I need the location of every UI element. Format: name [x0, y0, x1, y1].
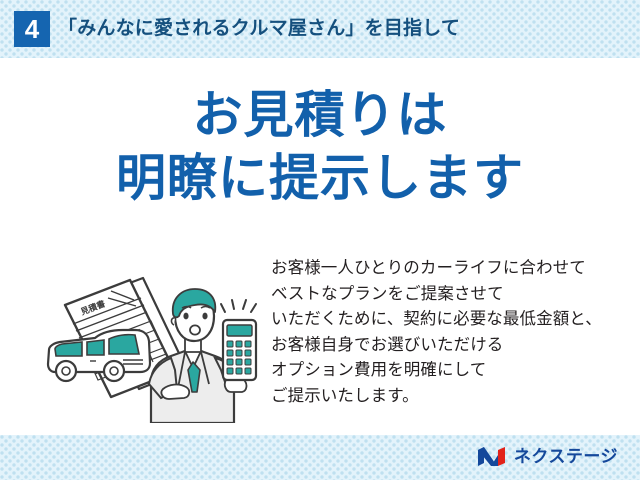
- nextage-n-mark-icon: [477, 446, 507, 467]
- promo-banner: 4 「みんなに愛されるクルマ屋さん」を目指して お見積りは 明瞭に提示します お…: [0, 0, 640, 480]
- body-copy-line-6: ご提示いたします。: [271, 384, 631, 410]
- brand-name: ネクステージ: [514, 446, 618, 467]
- body-copy-line-2: ベストなプランをご提案させて: [271, 282, 631, 308]
- body-copy-line-4: お客様自身でお選びいただける: [271, 333, 631, 359]
- body-copy-line-1: お客様一人ひとりのカーライフに合わせて: [271, 256, 631, 282]
- brand-logo: ネクステージ: [477, 444, 618, 468]
- headline-line-1: お見積りは: [0, 84, 640, 147]
- body-copy-line-5: オプション費用を明確にして: [271, 358, 631, 384]
- page-title: お見積りは 明瞭に提示します: [0, 84, 640, 210]
- calculator-icon: [223, 320, 256, 380]
- sparkle-lines-icon: [221, 300, 256, 312]
- body-copy-line-3: いただくために、契約に必要な最低金額と、: [271, 307, 631, 333]
- step-number-badge: 4: [14, 11, 50, 47]
- header-title: 「みんなに愛されるクルマ屋さん」を目指して: [58, 13, 460, 45]
- illustration-salesman-quote-van: 見積書: [35, 258, 267, 423]
- body-copy: お客様一人ひとりのカーライフに合わせて ベストなプランをご提案させて いただくた…: [271, 256, 631, 410]
- headline-line-2: 明瞭に提示します: [0, 147, 640, 210]
